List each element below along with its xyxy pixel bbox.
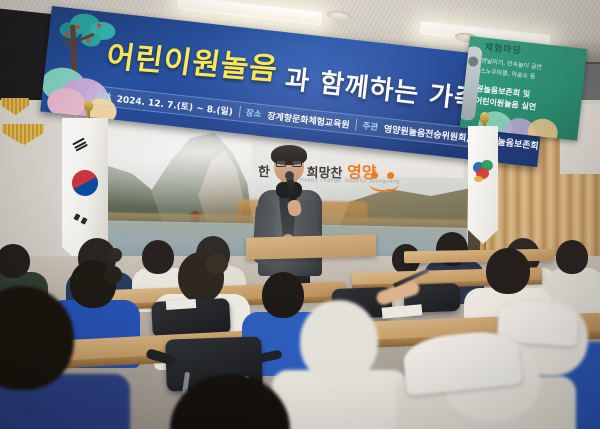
trigram-gon bbox=[73, 213, 87, 224]
emblem-segment-gold bbox=[474, 176, 483, 182]
head-table bbox=[246, 234, 377, 259]
taegeuk-circle bbox=[67, 165, 102, 200]
flagpole-finial-left bbox=[84, 100, 93, 111]
glasses-icon bbox=[276, 160, 302, 167]
green-panel-heading: 체험마당 bbox=[484, 40, 522, 57]
event-photo-scene: 한 변화 희망찬 영양 Happy change, Hopeful Yeongy… bbox=[0, 0, 600, 429]
host-label: 주관 bbox=[362, 119, 379, 133]
speaker-person bbox=[252, 148, 330, 288]
green-program-panel: 체험마당 연날리기, 민속놀이 공연 스노우마블, 마술쇼 등 원놀음보존회 및… bbox=[460, 36, 588, 141]
county-emblem-icon bbox=[473, 160, 494, 181]
flagpole-finial-right bbox=[480, 112, 489, 123]
yeongyang-county-flag bbox=[468, 126, 498, 244]
divider bbox=[355, 119, 357, 131]
place-label: 장소 bbox=[245, 106, 262, 120]
period-label: 기간 bbox=[95, 89, 112, 103]
divider bbox=[238, 106, 240, 118]
trigram-geon bbox=[72, 138, 89, 154]
